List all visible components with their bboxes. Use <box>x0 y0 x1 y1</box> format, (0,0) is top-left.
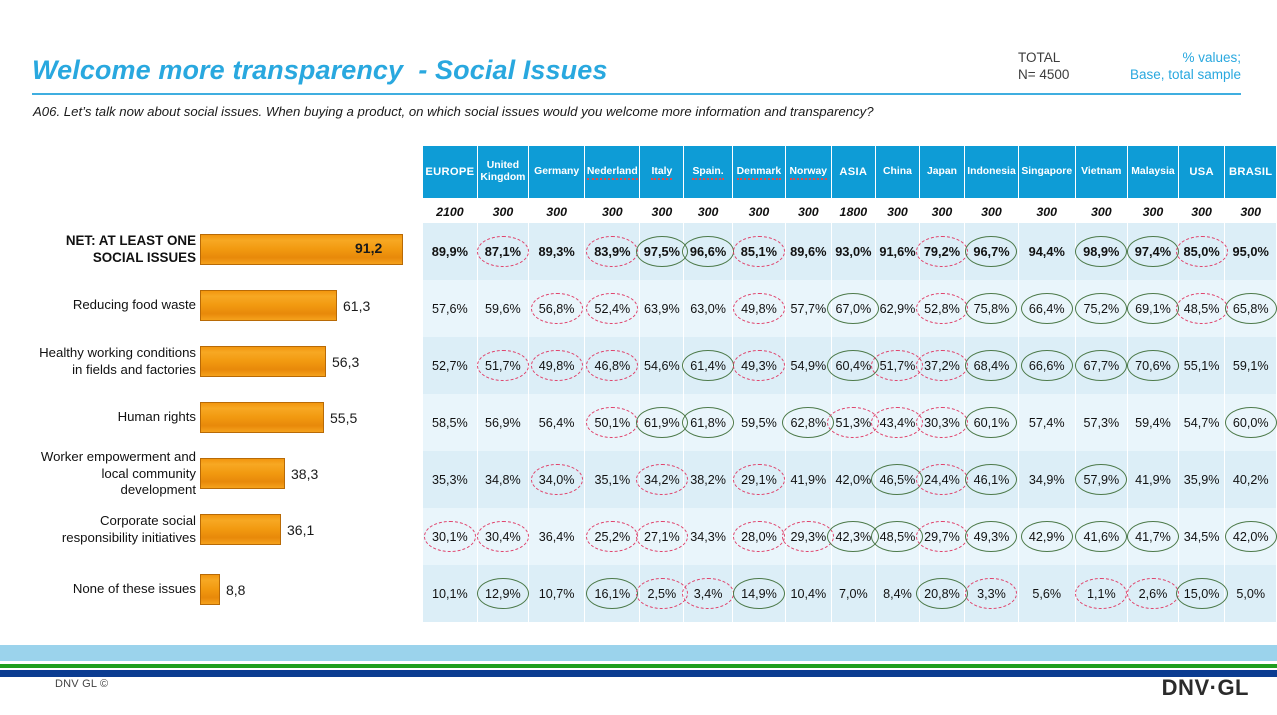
base-size-cell: 300 <box>1225 200 1277 224</box>
bar-row: Worker empowerment andlocal communitydev… <box>0 450 420 490</box>
cell-value: 8,4% <box>883 587 912 601</box>
cell-value: 42,3% <box>835 530 871 544</box>
cell-value: 34,9% <box>1029 473 1065 487</box>
cell-value: 56,4% <box>539 416 575 430</box>
data-cell: 51,7% <box>876 337 920 394</box>
bar-category-label: Worker empowerment andlocal communitydev… <box>1 449 196 499</box>
data-cell: 35,3% <box>423 451 477 508</box>
cell-value: 25,2% <box>594 530 630 544</box>
bar-chart: NET: AT LEAST ONESOCIAL ISSUES91,2Reduci… <box>0 210 420 610</box>
total-label: TOTAL <box>1018 49 1069 66</box>
cell-value: 91,6% <box>879 244 915 259</box>
column-header-spain[interactable]: Spain. <box>684 146 733 200</box>
data-cell: 50,1% <box>585 394 640 451</box>
cell-value: 43,4% <box>880 416 916 430</box>
data-cell: 62,9% <box>876 280 920 337</box>
column-header-china[interactable]: China <box>876 146 920 200</box>
data-grid: EUROPEUnitedKingdomGermanyNederlandItaly… <box>423 146 1277 622</box>
bar <box>200 574 220 605</box>
data-cell: 8,4% <box>876 565 920 622</box>
data-cell: 54,9% <box>786 337 832 394</box>
cell-value: 87,1% <box>485 244 521 259</box>
data-cell: 3,4% <box>684 565 733 622</box>
cell-value: 65,8% <box>1233 302 1269 316</box>
bar-value-label: 55,5 <box>330 410 357 426</box>
cell-value: 38,2% <box>690 473 726 487</box>
cell-value: 75,8% <box>974 302 1010 316</box>
cell-value: 52,4% <box>594 302 630 316</box>
data-cell: 27,1% <box>640 508 684 565</box>
data-cell: 94,4% <box>1018 223 1075 280</box>
data-cell: 12,9% <box>477 565 528 622</box>
cell-value: 46,8% <box>594 359 630 373</box>
bar-category-label: NET: AT LEAST ONESOCIAL ISSUES <box>1 233 196 266</box>
data-cell: 96,6% <box>684 223 733 280</box>
cell-value: 27,1% <box>644 530 680 544</box>
data-cell: 60,1% <box>965 394 1019 451</box>
data-cell: 49,3% <box>732 337 785 394</box>
cell-value: 30,1% <box>432 530 468 544</box>
cell-value: 89,9% <box>432 244 468 259</box>
bar-row: NET: AT LEAST ONESOCIAL ISSUES91,2 <box>0 226 420 266</box>
data-cell: 52,7% <box>423 337 477 394</box>
cell-value: 10,4% <box>790 587 826 601</box>
cell-value: 60,4% <box>835 359 871 373</box>
cell-value: 3,3% <box>977 587 1006 601</box>
bar-value-label: 38,3 <box>291 466 318 482</box>
base-size-cell: 300 <box>585 200 640 224</box>
cell-value: 35,9% <box>1184 473 1220 487</box>
table-row: 35,3%34,8%34,0%35,1%34,2%38,2%29,1%41,9%… <box>423 451 1277 508</box>
cell-value: 61,4% <box>690 359 726 373</box>
data-cell: 57,4% <box>1018 394 1075 451</box>
cell-value: 2,5% <box>648 587 677 601</box>
data-cell: 65,8% <box>1225 280 1277 337</box>
cell-value: 50,1% <box>594 416 630 430</box>
cell-value: 95,0% <box>1233 244 1269 259</box>
base-size-cell: 300 <box>876 200 920 224</box>
data-cell: 95,0% <box>1225 223 1277 280</box>
base-size-cell: 1800 <box>831 200 875 224</box>
data-cell: 34,3% <box>684 508 733 565</box>
data-cell: 28,0% <box>732 508 785 565</box>
cell-value: 49,3% <box>974 530 1010 544</box>
data-cell: 43,4% <box>876 394 920 451</box>
bar <box>200 458 285 489</box>
data-cell: 56,4% <box>529 394 585 451</box>
data-cell: 52,8% <box>919 280 964 337</box>
column-header-denmark[interactable]: Denmark <box>732 146 785 200</box>
cell-value: 56,9% <box>485 416 521 430</box>
data-cell: 54,7% <box>1178 394 1225 451</box>
table-row: 89,9%87,1%89,3%83,9%97,5%96,6%85,1%89,6%… <box>423 223 1277 280</box>
cell-value: 67,7% <box>1083 359 1119 373</box>
cell-value: 49,8% <box>741 302 777 316</box>
column-header-brasil[interactable]: BRASIL <box>1225 146 1277 200</box>
data-cell: 34,2% <box>640 451 684 508</box>
data-cell: 98,9% <box>1075 223 1128 280</box>
cell-value: 10,7% <box>539 587 575 601</box>
cell-value: 63,9% <box>644 302 680 316</box>
data-cell: 20,8% <box>919 565 964 622</box>
data-cell: 30,4% <box>477 508 528 565</box>
page-title: Welcome more transparency - Social Issue… <box>32 55 607 86</box>
cell-value: 98,9% <box>1083 244 1119 259</box>
column-header-vietnam[interactable]: Vietnam <box>1075 146 1128 200</box>
total-base-block: TOTAL N= 4500 <box>1018 49 1069 83</box>
cell-value: 96,6% <box>690 244 726 259</box>
country-percent-table: EUROPEUnitedKingdomGermanyNederlandItaly… <box>423 146 1277 622</box>
data-cell: 3,3% <box>965 565 1019 622</box>
cell-value: 59,5% <box>741 416 777 430</box>
base-size-cell: 300 <box>1178 200 1225 224</box>
cell-value: 37,2% <box>924 359 960 373</box>
data-cell: 2,5% <box>640 565 684 622</box>
bar-category-label: Human rights <box>1 409 196 426</box>
data-cell: 42,3% <box>831 508 875 565</box>
data-cell: 48,5% <box>876 508 920 565</box>
cell-value: 55,1% <box>1184 359 1220 373</box>
cell-value: 57,4% <box>1029 416 1065 430</box>
base-size-cell: 300 <box>640 200 684 224</box>
title-divider <box>32 93 1241 95</box>
cell-value: 54,6% <box>644 359 680 373</box>
data-cell: 36,4% <box>529 508 585 565</box>
base-size-cell: 300 <box>1075 200 1128 224</box>
data-cell: 29,3% <box>786 508 832 565</box>
cell-value: 79,2% <box>924 244 960 259</box>
bar-value-label: 36,1 <box>287 522 314 538</box>
cell-value: 60,1% <box>974 416 1010 430</box>
cell-value: 24,4% <box>924 473 960 487</box>
data-cell: 34,9% <box>1018 451 1075 508</box>
table-header-row: EUROPEUnitedKingdomGermanyNederlandItaly… <box>423 146 1277 200</box>
bar-value-label: 8,8 <box>226 582 245 598</box>
bar-category-label: None of these issues <box>1 581 196 598</box>
footer-band-dark-blue <box>0 670 1277 677</box>
cell-value: 89,3% <box>538 244 574 259</box>
data-cell: 67,0% <box>831 280 875 337</box>
bar <box>200 346 326 377</box>
cell-value: 56,8% <box>539 302 575 316</box>
cell-value: 34,5% <box>1184 530 1220 544</box>
data-cell: 30,3% <box>919 394 964 451</box>
cell-value: 41,6% <box>1083 530 1119 544</box>
cell-value: 60,0% <box>1233 416 1269 430</box>
cell-value: 52,8% <box>924 302 960 316</box>
cell-value: 10,1% <box>432 587 468 601</box>
column-header-italy[interactable]: Italy <box>640 146 684 200</box>
base-size-cell: 300 <box>1128 200 1179 224</box>
bar-value-label: 61,3 <box>343 298 370 314</box>
data-cell: 59,1% <box>1225 337 1277 394</box>
cell-value: 85,0% <box>1183 244 1219 259</box>
data-cell: 5,0% <box>1225 565 1277 622</box>
data-cell: 34,8% <box>477 451 528 508</box>
data-cell: 42,0% <box>1225 508 1277 565</box>
cell-value: 35,3% <box>432 473 468 487</box>
bar <box>200 290 337 321</box>
cell-value: 34,8% <box>485 473 521 487</box>
table-row: 58,5%56,9%56,4%50,1%61,9%61,8%59,5%62,8%… <box>423 394 1277 451</box>
cell-value: 54,9% <box>790 359 826 373</box>
data-cell: 89,3% <box>529 223 585 280</box>
cell-value: 42,0% <box>1233 530 1269 544</box>
cell-value: 7,0% <box>839 587 868 601</box>
cell-value: 48,5% <box>880 530 916 544</box>
data-cell: 2,6% <box>1128 565 1179 622</box>
data-cell: 10,4% <box>786 565 832 622</box>
cell-value: 35,1% <box>594 473 630 487</box>
column-header-indonesia[interactable]: Indonesia <box>965 146 1019 200</box>
cell-value: 5,0% <box>1236 587 1265 601</box>
data-cell: 55,1% <box>1178 337 1225 394</box>
cell-value: 51,7% <box>880 359 916 373</box>
cell-value: 75,2% <box>1083 302 1119 316</box>
table-base-row: 2100300300300300300300300180030030030030… <box>423 200 1277 224</box>
cell-value: 34,2% <box>644 473 680 487</box>
data-cell: 30,1% <box>423 508 477 565</box>
cell-value: 28,0% <box>741 530 777 544</box>
data-cell: 10,7% <box>529 565 585 622</box>
cell-value: 94,4% <box>1029 244 1065 259</box>
cell-value: 20,8% <box>924 587 960 601</box>
cell-value: 3,4% <box>694 587 723 601</box>
data-cell: 97,4% <box>1128 223 1179 280</box>
data-cell: 51,7% <box>477 337 528 394</box>
data-cell: 93,0% <box>831 223 875 280</box>
cell-value: 66,4% <box>1029 302 1065 316</box>
cell-value: 42,0% <box>835 473 871 487</box>
column-header-malaysia[interactable]: Malaysia <box>1128 146 1179 200</box>
data-cell: 85,0% <box>1178 223 1225 280</box>
data-cell: 25,2% <box>585 508 640 565</box>
cell-value: 96,7% <box>973 244 1009 259</box>
base-size-cell: 300 <box>477 200 528 224</box>
cell-value: 57,9% <box>1083 473 1119 487</box>
cell-value: 67,0% <box>835 302 871 316</box>
data-cell: 79,2% <box>919 223 964 280</box>
data-cell: 41,9% <box>1128 451 1179 508</box>
cell-value: 30,4% <box>485 530 521 544</box>
cell-value: 63,0% <box>690 302 726 316</box>
data-cell: 69,1% <box>1128 280 1179 337</box>
data-cell: 59,4% <box>1128 394 1179 451</box>
cell-value: 12,9% <box>485 587 521 601</box>
column-header-asia[interactable]: ASIA <box>831 146 875 200</box>
data-cell: 54,6% <box>640 337 684 394</box>
data-cell: 48,5% <box>1178 280 1225 337</box>
base-size-cell: 300 <box>965 200 1019 224</box>
cell-value: 14,9% <box>741 587 777 601</box>
data-cell: 7,0% <box>831 565 875 622</box>
data-cell: 24,4% <box>919 451 964 508</box>
data-cell: 29,1% <box>732 451 785 508</box>
base-size-cell: 300 <box>919 200 964 224</box>
data-cell: 46,5% <box>876 451 920 508</box>
base-size-cell: 300 <box>1018 200 1075 224</box>
cell-value: 46,5% <box>880 473 916 487</box>
data-cell: 97,5% <box>640 223 684 280</box>
data-cell: 49,8% <box>529 337 585 394</box>
data-cell: 51,3% <box>831 394 875 451</box>
data-cell: 49,3% <box>965 508 1019 565</box>
bar-row: None of these issues8,8 <box>0 566 420 606</box>
data-cell: 68,4% <box>965 337 1019 394</box>
data-cell: 34,5% <box>1178 508 1225 565</box>
bar-row: Reducing food waste61,3 <box>0 282 420 322</box>
cell-value: 62,8% <box>790 416 826 430</box>
data-cell: 37,2% <box>919 337 964 394</box>
data-cell: 16,1% <box>585 565 640 622</box>
cell-value: 57,3% <box>1083 416 1119 430</box>
cell-value: 15,0% <box>1184 587 1220 601</box>
data-cell: 38,2% <box>684 451 733 508</box>
base-size-cell: 2100 <box>423 200 477 224</box>
cell-value: 29,3% <box>790 530 826 544</box>
data-cell: 29,7% <box>919 508 964 565</box>
cell-value: 41,9% <box>790 473 826 487</box>
data-cell: 56,8% <box>529 280 585 337</box>
cell-value: 61,8% <box>690 416 726 430</box>
table-head: EUROPEUnitedKingdomGermanyNederlandItaly… <box>423 146 1277 223</box>
data-cell: 41,6% <box>1075 508 1128 565</box>
data-cell: 46,8% <box>585 337 640 394</box>
data-cell: 62,8% <box>786 394 832 451</box>
data-cell: 52,4% <box>585 280 640 337</box>
cell-value: 97,4% <box>1135 244 1171 259</box>
bar-row: Corporate socialresponsibility initiativ… <box>0 506 420 546</box>
data-cell: 59,5% <box>732 394 785 451</box>
data-cell: 57,6% <box>423 280 477 337</box>
cell-value: 41,7% <box>1135 530 1171 544</box>
data-cell: 57,3% <box>1075 394 1128 451</box>
column-header-japan[interactable]: Japan <box>919 146 964 200</box>
column-header-usa[interactable]: USA <box>1178 146 1225 200</box>
cell-value: 93,0% <box>835 244 871 259</box>
footer-band-light-blue <box>0 645 1277 661</box>
data-cell: 59,6% <box>477 280 528 337</box>
cell-value: 97,5% <box>644 244 680 259</box>
cell-value: 49,8% <box>539 359 575 373</box>
column-header-europe[interactable]: EUROPE <box>423 146 477 200</box>
data-cell: 60,0% <box>1225 394 1277 451</box>
cell-value: 49,3% <box>741 359 777 373</box>
data-cell: 89,9% <box>423 223 477 280</box>
base-total-sample-label: Base, total sample <box>1102 66 1241 83</box>
bar <box>200 514 281 545</box>
cell-value: 58,5% <box>432 416 468 430</box>
data-cell: 66,6% <box>1018 337 1075 394</box>
data-cell: 70,6% <box>1128 337 1179 394</box>
data-cell: 75,8% <box>965 280 1019 337</box>
cell-value: 30,3% <box>924 416 960 430</box>
cell-value: 48,5% <box>1184 302 1220 316</box>
cell-value: 66,6% <box>1029 359 1065 373</box>
data-cell: 14,9% <box>732 565 785 622</box>
cell-value: 70,6% <box>1135 359 1171 373</box>
cell-value: 34,0% <box>539 473 575 487</box>
cell-value: 54,7% <box>1184 416 1220 430</box>
cell-value: 29,7% <box>924 530 960 544</box>
data-cell: 89,6% <box>786 223 832 280</box>
data-cell: 60,4% <box>831 337 875 394</box>
base-size-cell: 300 <box>732 200 785 224</box>
cell-value: 83,9% <box>594 244 630 259</box>
base-size-cell: 300 <box>529 200 585 224</box>
data-cell: 61,8% <box>684 394 733 451</box>
data-cell: 61,9% <box>640 394 684 451</box>
cell-value: 16,1% <box>594 587 630 601</box>
bar <box>200 402 324 433</box>
column-header-nederland[interactable]: Nederland <box>585 146 640 200</box>
data-cell: 40,2% <box>1225 451 1277 508</box>
data-cell: 10,1% <box>423 565 477 622</box>
data-cell: 87,1% <box>477 223 528 280</box>
cell-value: 68,4% <box>974 359 1010 373</box>
table-body: 89,9%87,1%89,3%83,9%97,5%96,6%85,1%89,6%… <box>423 223 1277 622</box>
bar-value-label: 56,3 <box>332 354 359 370</box>
column-header-united-kingdom[interactable]: UnitedKingdom <box>477 146 528 200</box>
cell-value: 46,1% <box>974 473 1010 487</box>
bar-category-label: Reducing food waste <box>1 297 196 314</box>
sample-size-label: N= 4500 <box>1018 66 1069 83</box>
data-cell: 35,1% <box>585 451 640 508</box>
column-header-singapore[interactable]: Singapore <box>1018 146 1075 200</box>
data-cell: 35,9% <box>1178 451 1225 508</box>
cell-value: 85,1% <box>741 244 777 259</box>
column-header-norway[interactable]: Norway <box>786 146 832 200</box>
column-header-germany[interactable]: Germany <box>529 146 585 200</box>
bar-row: Human rights55,5 <box>0 394 420 434</box>
data-cell: 91,6% <box>876 223 920 280</box>
data-cell: 96,7% <box>965 223 1019 280</box>
cell-value: 29,1% <box>741 473 777 487</box>
data-cell: 66,4% <box>1018 280 1075 337</box>
dnv-gl-logo: DNV·GL <box>1162 675 1249 701</box>
data-cell: 63,9% <box>640 280 684 337</box>
bar-row: Healthy working conditionsin fields and … <box>0 338 420 378</box>
data-cell: 75,2% <box>1075 280 1128 337</box>
data-cell: 63,0% <box>684 280 733 337</box>
cell-value: 34,3% <box>690 530 726 544</box>
data-cell: 42,9% <box>1018 508 1075 565</box>
question-text: A06. Let’s talk now about social issues.… <box>33 103 923 121</box>
base-size-cell: 300 <box>786 200 832 224</box>
bar-value-label: 91,2 <box>355 240 382 256</box>
cell-value: 2,6% <box>1139 587 1168 601</box>
data-cell: 5,6% <box>1018 565 1075 622</box>
bar-category-label: Corporate socialresponsibility initiativ… <box>1 513 196 546</box>
cell-value: 41,9% <box>1135 473 1171 487</box>
data-cell: 83,9% <box>585 223 640 280</box>
cell-value: 89,6% <box>790 244 826 259</box>
data-cell: 58,5% <box>423 394 477 451</box>
data-cell: 41,7% <box>1128 508 1179 565</box>
data-cell: 61,4% <box>684 337 733 394</box>
cell-value: 40,2% <box>1233 473 1269 487</box>
cell-value: 51,7% <box>485 359 521 373</box>
bar-category-label: Healthy working conditionsin fields and … <box>1 345 196 378</box>
data-cell: 1,1% <box>1075 565 1128 622</box>
percent-values-label: % values; <box>1102 49 1241 66</box>
data-cell: 57,9% <box>1075 451 1128 508</box>
cell-value: 59,4% <box>1135 416 1171 430</box>
data-cell: 34,0% <box>529 451 585 508</box>
data-cell: 15,0% <box>1178 565 1225 622</box>
data-cell: 85,1% <box>732 223 785 280</box>
cell-value: 61,9% <box>644 416 680 430</box>
